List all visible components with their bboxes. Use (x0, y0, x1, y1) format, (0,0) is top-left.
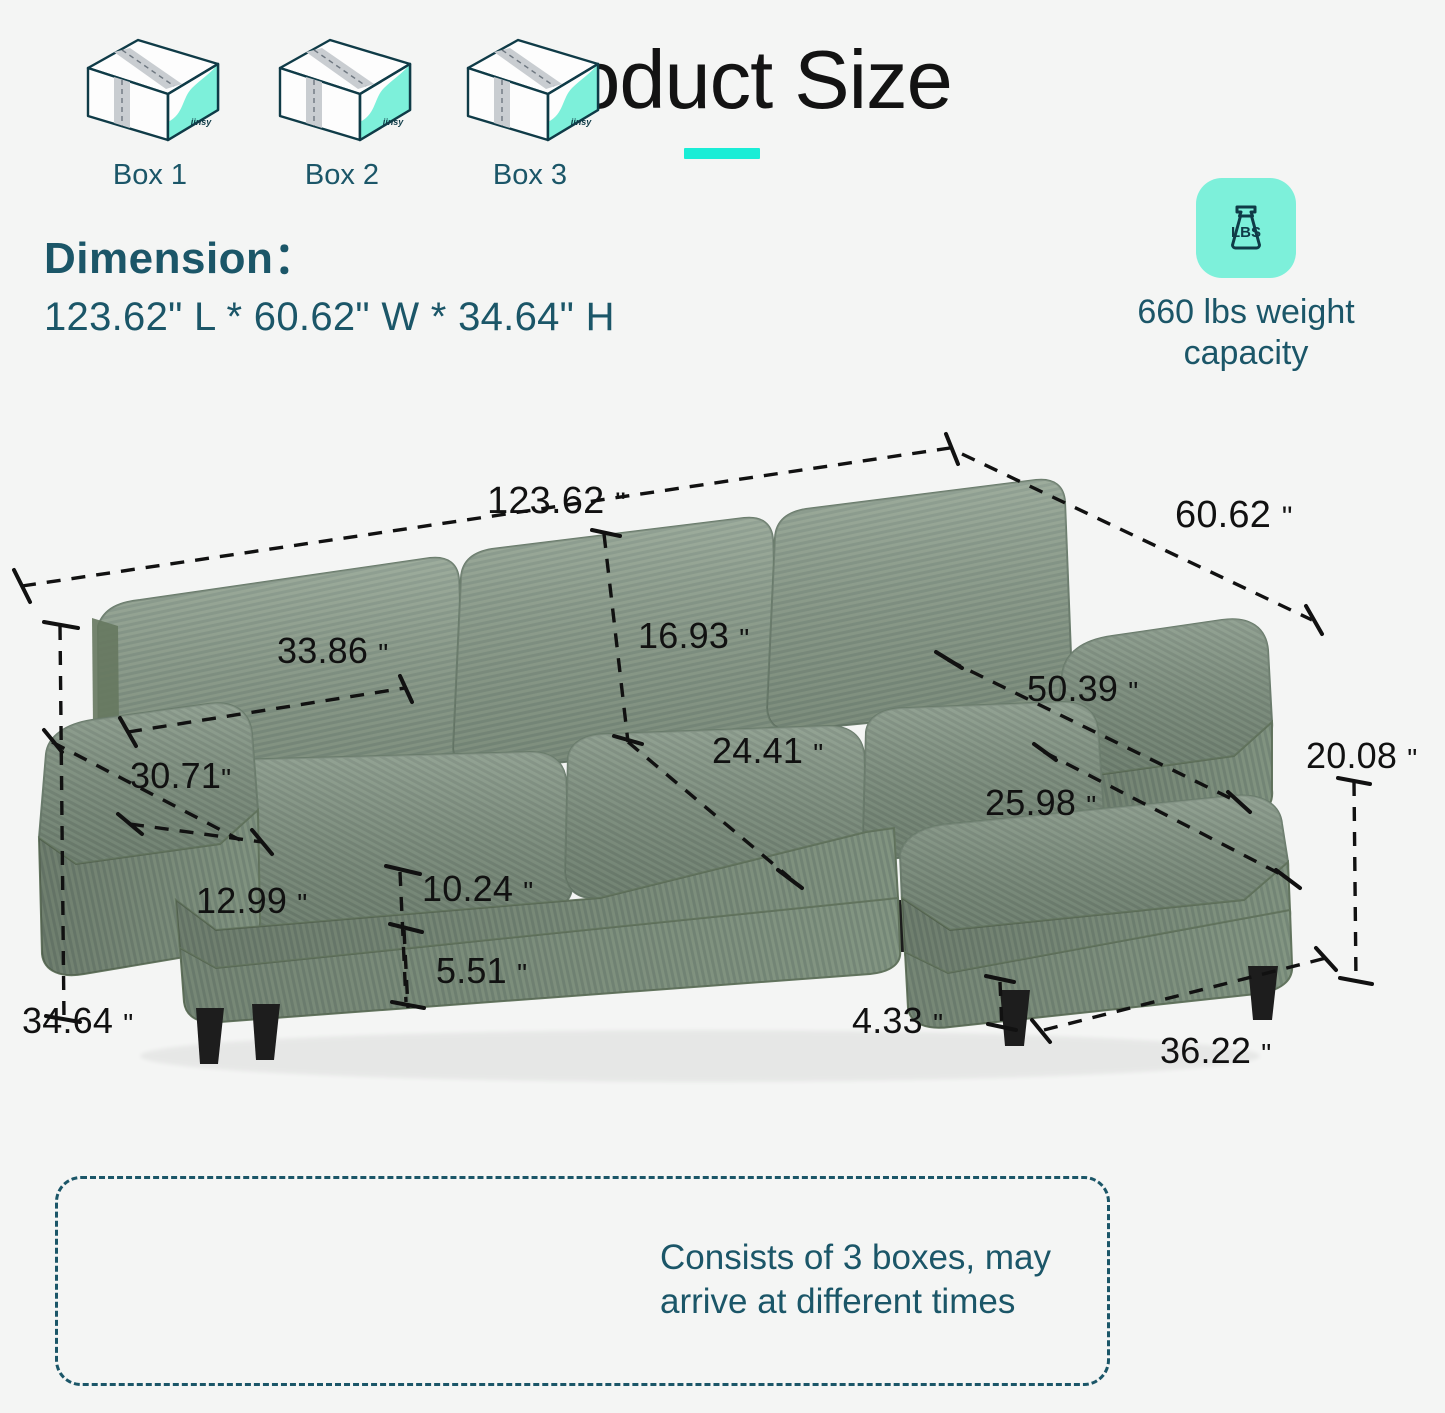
package-box-2: jinsy Box 2 (252, 28, 432, 192)
weight-capacity-block: LBS 660 lbs weight capacity (1086, 178, 1406, 375)
weight-capacity-text: 660 lbs weight capacity (1086, 292, 1406, 375)
measurement-12-99: 12.99 " (196, 880, 307, 922)
package-box-1: jinsy Box 1 (60, 28, 240, 192)
box-caption: Box 1 (60, 159, 240, 192)
dimension-label: Dimension： (44, 222, 318, 286)
svg-text:LBS: LBS (1231, 224, 1261, 241)
measurement-33-86: 33.86 " (277, 630, 388, 672)
title-accent-bar (684, 148, 760, 159)
measurement-25-98: 25.98 " (985, 782, 1096, 824)
packaging-note: Consists of 3 boxes, may arrive at diffe… (660, 1236, 1080, 1325)
measurement-50-39: 50.39 " (1027, 668, 1138, 710)
measurement-20-08: 20.08 " (1306, 735, 1417, 777)
measurement-10-24: 10.24 " (422, 868, 533, 910)
box-brand: jinsy (570, 117, 593, 127)
dimline-20-08 (1354, 782, 1356, 982)
box-caption: Box 2 (252, 159, 432, 192)
box-icon: jinsy (262, 28, 422, 148)
box-icon: jinsy (450, 28, 610, 148)
measurement-4-33: 4.33 " (852, 1000, 943, 1042)
box-icon: jinsy (70, 28, 230, 148)
measurement-34-64: 34.64 " (22, 1000, 133, 1042)
box-brand: jinsy (190, 117, 213, 127)
measurement-5-51: 5.51 " (436, 950, 527, 992)
measurement-24-41: 24.41 " (712, 730, 823, 772)
package-box-3: jinsy Box 3 (440, 28, 620, 192)
measurement-16-93: 16.93 " (638, 615, 749, 657)
box-brand: jinsy (382, 117, 405, 127)
measurement-123-62: 123.62 " (487, 480, 626, 523)
box-caption: Box 3 (440, 159, 620, 192)
measurement-30-71: 30.71" (130, 755, 231, 797)
measurement-60-62: 60.62 " (1175, 494, 1293, 537)
lbs-weight-icon: LBS (1196, 178, 1296, 278)
product-size-infographic: Product Size Dimension： 123.62" L * 60.6… (0, 0, 1445, 1413)
dimension-value: 123.62" L * 60.62" W * 34.64" H (44, 295, 615, 340)
measurement-36-22: 36.22 " (1160, 1030, 1271, 1072)
